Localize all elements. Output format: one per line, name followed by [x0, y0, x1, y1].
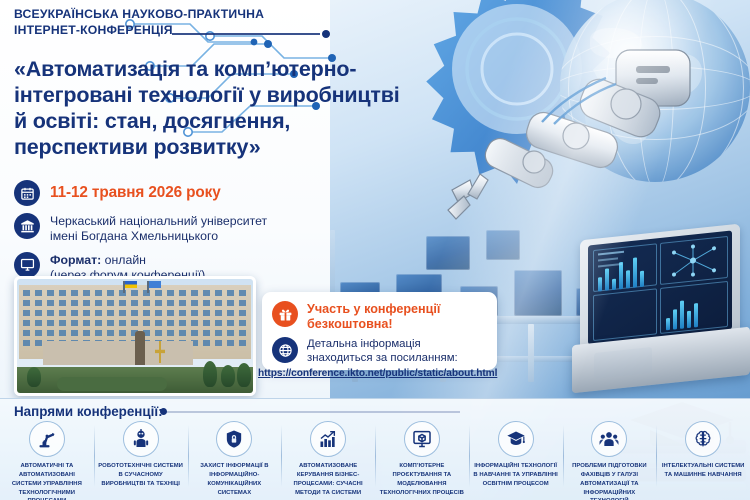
page-title: «Автоматизація та комп’ютерно-інтегрован…	[14, 56, 414, 160]
direction-item-8[interactable]: ІНТЕЛЕКТУАЛЬНІ СИСТЕМИ ТА МАШИННЕ НАВЧАН…	[656, 421, 750, 500]
directions-title: Напрями конференції:	[14, 404, 163, 419]
globe-icon	[272, 337, 298, 363]
direction-item-6[interactable]: ІНФОРМАЦІЙНІ ТЕХНОЛОГІЇ В НАВЧАННІ ТА УП…	[469, 421, 563, 500]
venue-line-1: Черкаський національний університет	[50, 214, 267, 228]
kicker-line-1: ВСЕУКРАЇНСЬКА НАУКОВО-ПРАКТИЧНА	[14, 7, 314, 23]
details-text: Детальна інформація знаходиться за посил…	[307, 337, 458, 366]
free-line-2: безкоштовна!	[307, 317, 393, 331]
info-row-date: 11-12 травня 2026 року	[14, 180, 294, 206]
robot-icon	[123, 421, 159, 457]
direction-label: ІНФОРМАЦІЙНІ ТЕХНОЛОГІЇ В НАВЧАННІ ТА УП…	[473, 462, 559, 489]
shield-lock-icon	[216, 421, 252, 457]
participation-card: Участь у конференції безкоштовна! Деталь…	[262, 292, 497, 370]
monitor-cube-icon	[404, 421, 440, 457]
directions-list: АВТОМАТИЧНІ ТА АВТОМАТИЗОВАНІ СИСТЕМИ УП…	[0, 421, 750, 500]
direction-label: АВТОМАТИЧНІ ТА АВТОМАТИЗОВАНІ СИСТЕМИ УП…	[4, 462, 90, 500]
conference-poster: ВСЕУКРАЇНСЬКА НАУКОВО-ПРАКТИЧНА ІНТЕРНЕТ…	[0, 0, 750, 500]
direction-label: АВТОМАТИЗОВАНЕ КЕРУВАННЯ БІЗНЕС-ПРОЦЕСАМ…	[285, 462, 371, 497]
details-row: Детальна інформація знаходиться за посил…	[262, 332, 497, 366]
free-participation-row: Участь у конференції безкоштовна!	[262, 292, 497, 332]
direction-label: КОМП’ЮТЕРНЕ ПРОЄКТУВАННЯ ТА МОДЕЛЮВАННЯ …	[379, 462, 465, 497]
kicker-dot	[322, 30, 330, 38]
direction-item-7[interactable]: ПРОБЛЕМИ ПІДГОТОВКИ ФАХІВЦІВ У ГАЛУЗІ АВ…	[563, 421, 657, 500]
growth-chart-icon	[310, 421, 346, 457]
conference-url-link[interactable]: https://conference.ikto.net/public/stati…	[258, 368, 508, 379]
direction-item-3[interactable]: ЗАХИСТ ІНФОРМАЦІЇ В ІНФОРМАЦІЙНО-КОМУНІК…	[188, 421, 282, 500]
direction-label: ІНТЕЛЕКТУАЛЬНІ СИСТЕМИ ТА МАШИННЕ НАВЧАН…	[660, 462, 746, 480]
direction-label: ПРОБЛЕМИ ПІДГОТОВКИ ФАХІВЦІВ У ГАЛУЗІ АВ…	[567, 462, 653, 500]
calendar-icon	[14, 180, 40, 206]
university-building-photo	[14, 276, 256, 396]
event-info: 11-12 травня 2026 року Черкаський націон…	[14, 180, 294, 291]
details-line-1: Детальна інформація	[307, 338, 421, 350]
free-line-1: Участь у конференції	[307, 302, 440, 316]
venue-text: Черкаський національний університет імен…	[50, 213, 267, 245]
brain-icon	[685, 421, 721, 457]
direction-item-4[interactable]: АВТОМАТИЗОВАНЕ КЕРУВАННЯ БІЗНЕС-ПРОЦЕСАМ…	[281, 421, 375, 500]
direction-item-1[interactable]: АВТОМАТИЧНІ ТА АВТОМАТИЗОВАНІ СИСТЕМИ УП…	[0, 421, 94, 500]
free-participation-text: Участь у конференції безкоштовна!	[307, 301, 440, 332]
university-building-icon	[14, 213, 40, 239]
direction-label: РОБОТОТЕХНІЧНІ СИСТЕМИ В СУЧАСНОМУ ВИРОБ…	[98, 462, 184, 489]
directions-strip: Напрями конференції: АВТОМАТИЧНІ ТА АВТО…	[0, 398, 750, 500]
format-label: Формат:	[50, 253, 101, 267]
direction-item-5[interactable]: КОМП’ЮТЕРНЕ ПРОЄКТУВАННЯ ТА МОДЕЛЮВАННЯ …	[375, 421, 469, 500]
kicker-rule	[172, 33, 320, 35]
robot-arm-icon	[29, 421, 65, 457]
direction-item-2[interactable]: РОБОТОТЕХНІЧНІ СИСТЕМИ В СУЧАСНОМУ ВИРОБ…	[94, 421, 188, 500]
graduation-cap-icon	[498, 421, 534, 457]
info-row-venue: Черкаський національний університет імен…	[14, 213, 294, 245]
people-group-icon	[591, 421, 627, 457]
kicker-line-2: ІНТЕРНЕТ-КОНФЕРЕНЦІЯ	[14, 23, 314, 39]
details-line-2: знаходиться за посиланням:	[307, 352, 458, 364]
monitor-icon	[14, 252, 40, 278]
directions-rule	[160, 411, 460, 413]
gift-icon	[272, 301, 298, 327]
venue-line-2: імені Богдана Хмельницького	[50, 229, 218, 243]
event-date: 11-12 травня 2026 року	[50, 180, 221, 202]
direction-label: ЗАХИСТ ІНФОРМАЦІЇ В ІНФОРМАЦІЙНО-КОМУНІК…	[192, 462, 278, 497]
format-value: онлайн	[105, 253, 146, 267]
